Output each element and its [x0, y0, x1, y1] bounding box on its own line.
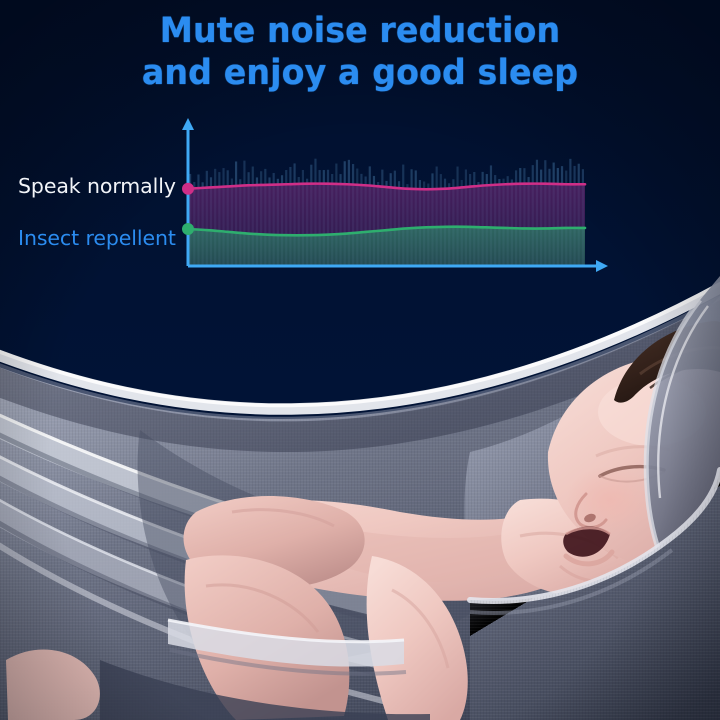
- x-axis-arrowhead: [596, 260, 608, 272]
- promo-banner: Mute noise reduction and enjoy a good sl…: [0, 0, 720, 720]
- legend-label-insect-repellent: Insect repellent: [18, 226, 176, 250]
- marker-speak-normally: [182, 183, 194, 195]
- baby-in-hammock-photo: [0, 0, 720, 720]
- y-axis-arrowhead: [182, 118, 194, 130]
- legend-label-speak-normally: Speak normally: [18, 174, 176, 198]
- marker-insect-repellent: [182, 223, 194, 235]
- chart-plot: [0, 110, 640, 290]
- noise-level-chart: Speak normally Insect repellent: [0, 110, 640, 290]
